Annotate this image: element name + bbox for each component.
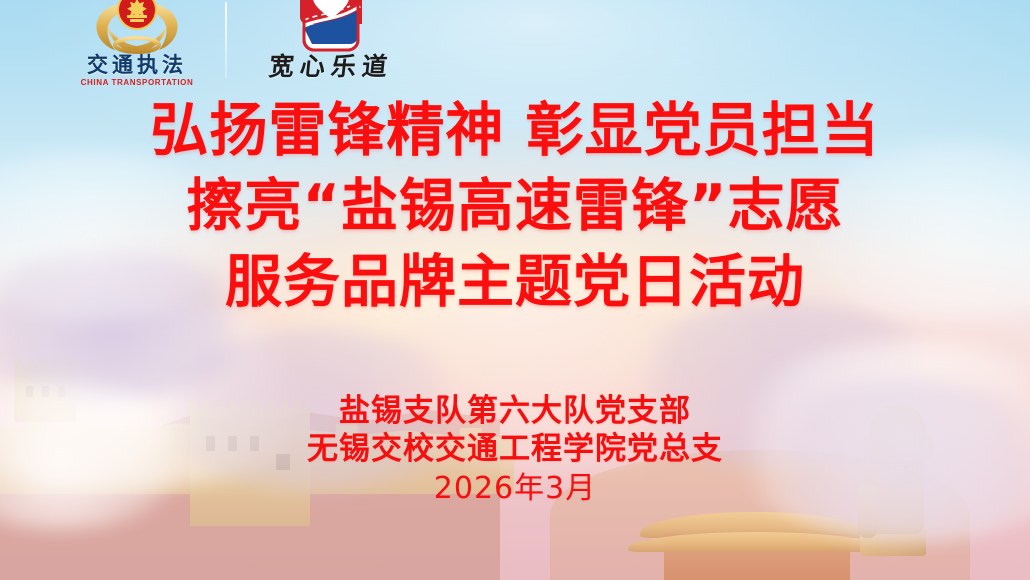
logo-row: 交通执法 CHINA TRANSPORTATION 宽心乐道 xyxy=(0,0,420,104)
subtitle-org-2: 无锡交校交通工程学院党总支 xyxy=(0,430,1030,468)
subtitle-org-1: 盐锡支队第六大队党支部 xyxy=(0,392,1030,430)
title-line-3: 服务品牌主题党日活动 xyxy=(0,244,1030,320)
logo-right-calligraphy-label: 宽心乐道 xyxy=(245,54,418,79)
logo-left-cn-label: 交通执法 xyxy=(62,55,212,76)
logo-china-transportation: 交通执法 CHINA TRANSPORTATION xyxy=(62,0,212,87)
subtitle-date: 2026年3月 xyxy=(0,470,1030,508)
subtitle-block: 盐锡支队第六大队党支部 无锡交校交通工程学院党总支 2026年3月 xyxy=(0,392,1030,508)
main-title-block: 弘扬雷锋精神 彰显党员担当 擦亮“盐锡高速雷锋”志愿 服务品牌主题党日活动 xyxy=(0,92,1030,320)
logo-left-en-label: CHINA TRANSPORTATION xyxy=(62,78,212,87)
logo-brand-mark: 宽心乐道 xyxy=(246,0,416,79)
title-line-1: 弘扬雷锋精神 彰显党员担当 xyxy=(0,92,1030,168)
heart-highway-brandmark-icon xyxy=(300,0,362,54)
china-transportation-enforcement-emblem-icon xyxy=(91,0,183,54)
title-line-2: 擦亮“盐锡高速雷锋”志愿 xyxy=(0,168,1030,244)
poster-slide: 交通执法 CHINA TRANSPORTATION 宽心乐道 弘 xyxy=(0,0,1030,580)
logo-divider xyxy=(225,2,227,78)
